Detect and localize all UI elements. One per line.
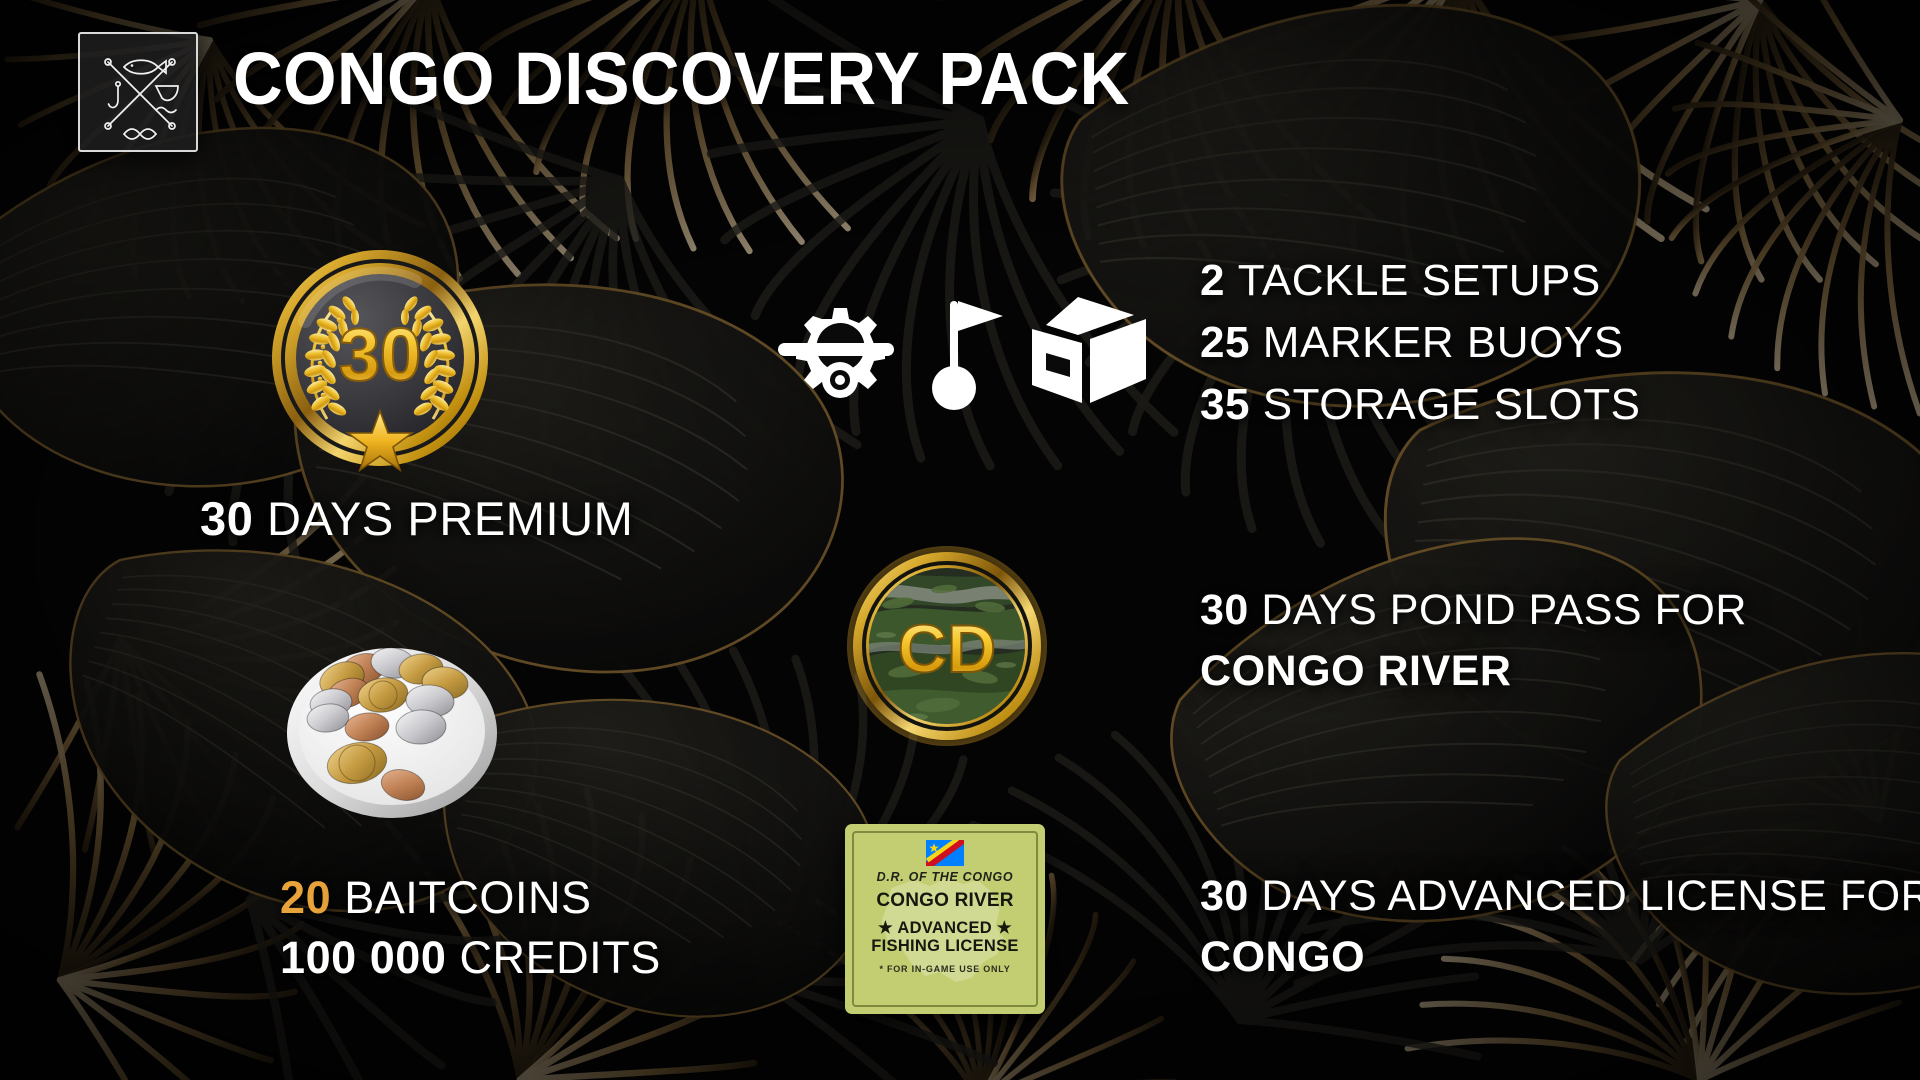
gear-label: TACKLE SETUPS [1238,256,1601,305]
dr-congo-flag-icon [926,840,964,866]
tackle-setup-icon [778,308,894,398]
marker-buoy-icon [932,301,1003,410]
license-count: 30 [1200,872,1249,920]
license-type-line2: FISHING LICENSE [854,937,1036,955]
credits-label: CREDITS [460,932,661,983]
currency-list: 20 BAITCOINS 100 000 CREDITS [280,868,661,988]
list-item: 20 BAITCOINS [280,868,661,928]
pond-pass-badge: CD [840,545,1055,750]
license-note: * FOR IN-GAME USE ONLY [854,964,1036,974]
gear-items-list: 2 TACKLE SETUPS 25 MARKER BUOYS 35 STORA… [1200,250,1640,435]
pond-badge-value: CD [898,611,996,687]
pond-count: 30 [1200,586,1249,634]
storage-box-icon [1032,297,1150,403]
pond-label: DAYS POND PASS FOR [1261,586,1747,634]
baitcoins-amount: 20 [280,872,331,923]
list-item: 100 000 CREDITS [280,928,661,988]
advanced-license-text: 30 DAYS ADVANCED LICENSE FOR CONGO [1200,866,1920,988]
fishing-emblem-icon [78,32,198,152]
baitcoins-label: BAITCOINS [344,872,591,923]
license-label: DAYS ADVANCED LICENSE FOR [1261,872,1920,920]
premium-badge: 30 [265,243,495,473]
premium-caption: 30 DAYS PREMIUM [200,495,633,542]
list-item: 25 MARKER BUOYS [1200,312,1640,374]
gear-count: 35 [1200,380,1250,429]
gear-count: 2 [1200,256,1225,305]
coins-plate-icon [285,635,500,820]
license-type-line1: ★ ADVANCED ★ [854,919,1036,937]
list-item: 35 STORAGE SLOTS [1200,374,1640,436]
premium-badge-value: 30 [339,313,421,396]
fishing-license-card: D.R. OF THE CONGO CONGO RIVER ★ ADVANCED… [845,824,1045,1014]
license-water: CONGO RIVER [854,890,1036,912]
credits-amount: 100 000 [280,932,446,983]
page-title: CONGO DISCOVERY PACK [233,42,1130,116]
list-item: 2 TACKLE SETUPS [1200,250,1640,312]
gear-icons-row [760,285,1150,415]
promo-banner: CONGO DISCOVERY PACK [0,0,1920,1080]
premium-count: 30 [200,492,253,545]
pond-target: CONGO RIVER [1200,647,1511,695]
license-country: D.R. OF THE CONGO [854,870,1036,884]
premium-label: DAYS PREMIUM [267,492,633,545]
pond-pass-text: 30 DAYS POND PASS FOR CONGO RIVER [1200,580,1747,702]
gear-label: STORAGE SLOTS [1263,380,1641,429]
gear-count: 25 [1200,318,1250,367]
gear-label: MARKER BUOYS [1263,318,1624,367]
license-target: CONGO [1200,933,1365,981]
